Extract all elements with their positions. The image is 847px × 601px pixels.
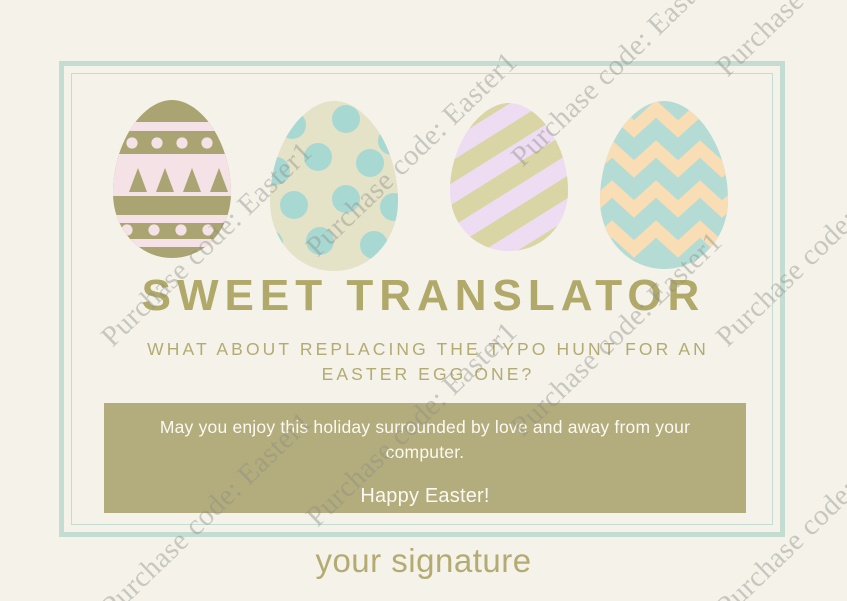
diagonal-stripe-egg-svg [450, 103, 568, 251]
diagonal-stripe-egg [450, 103, 568, 251]
striped-dotted-egg-svg [113, 100, 231, 258]
chevron-egg [600, 101, 728, 269]
signature-text: your signature [0, 542, 847, 580]
egg-illustration-row [0, 0, 847, 290]
card-subtitle: WHAT ABOUT REPLACING THE TYPO HUNT FOR A… [108, 337, 748, 388]
polka-dot-egg-svg [270, 101, 398, 271]
page-title: SWEET TRANSLATOR [0, 274, 847, 318]
message-body-text: May you enjoy this holiday surrounded by… [130, 415, 720, 465]
message-box: May you enjoy this holiday surrounded by… [104, 403, 746, 513]
chevron-egg-svg [600, 101, 728, 269]
message-greeting-text: Happy Easter! [130, 485, 720, 508]
polka-dot-egg [270, 101, 398, 271]
striped-dotted-egg [113, 100, 231, 258]
easter-greeting-card: SWEET TRANSLATOR WHAT ABOUT REPLACING TH… [0, 0, 847, 601]
